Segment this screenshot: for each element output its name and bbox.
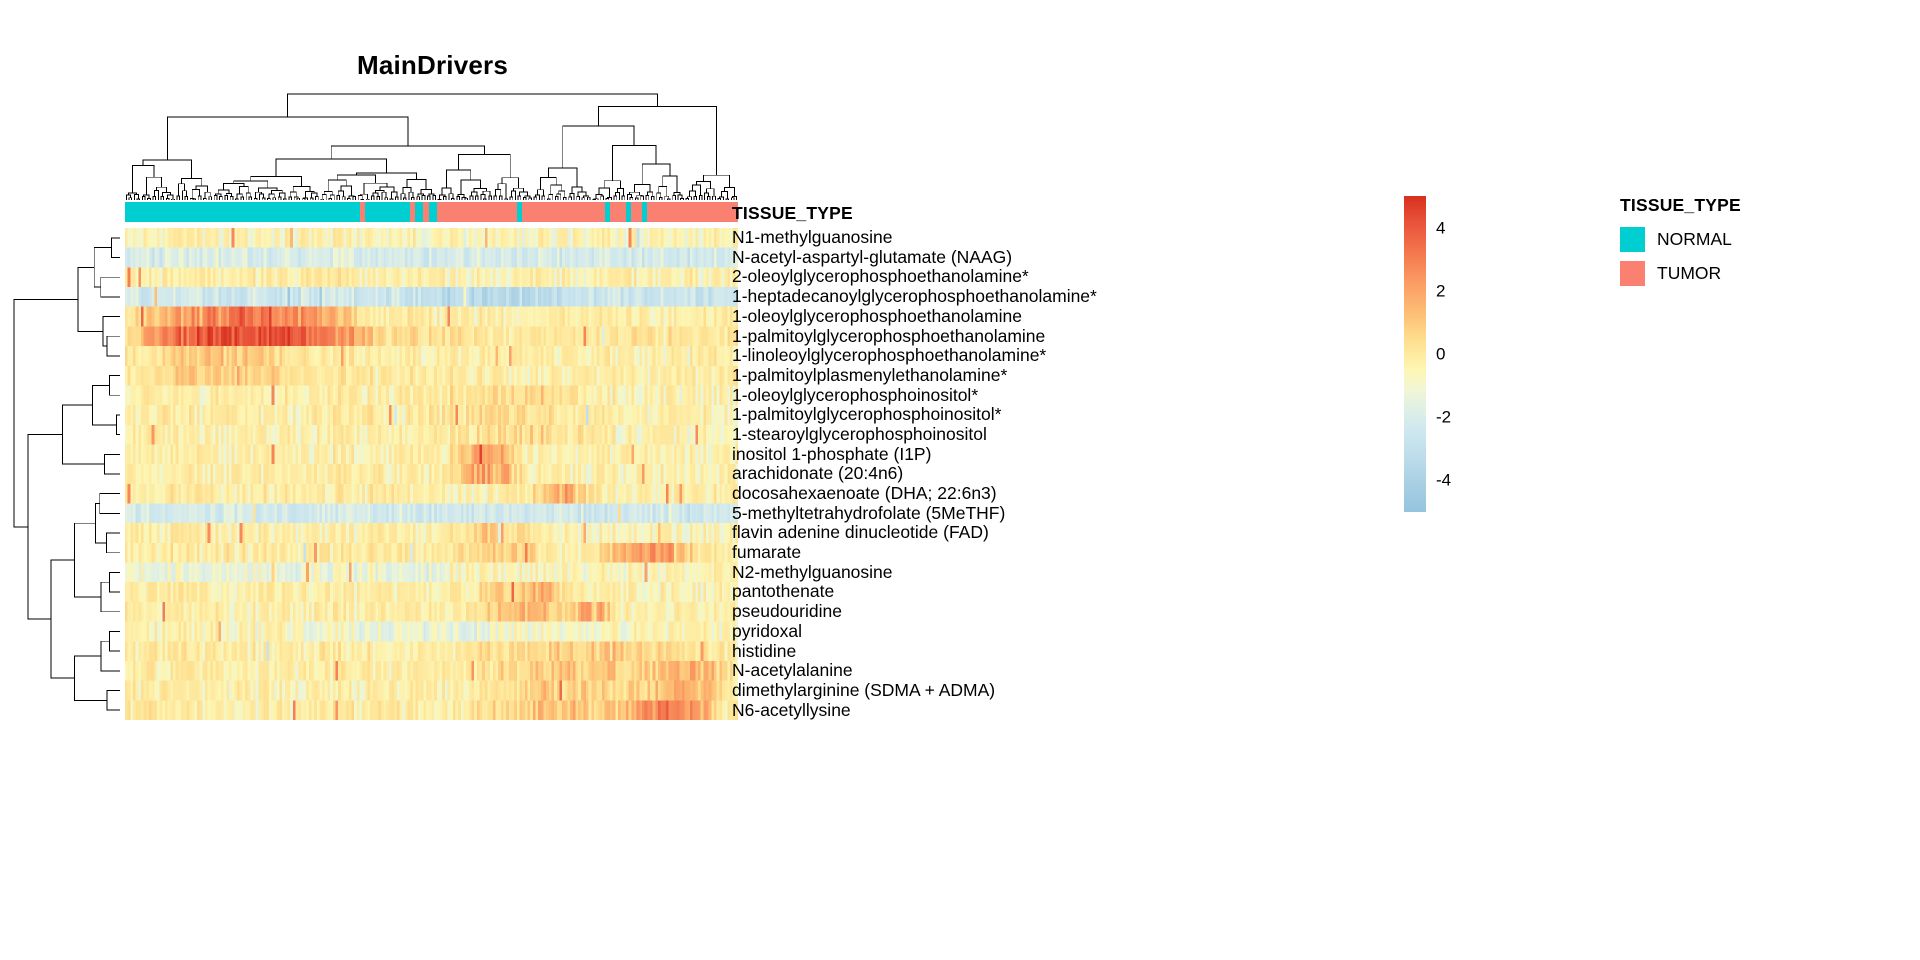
annotation-segment-normal [125,202,360,222]
annotation-segment-normal [429,202,437,222]
row-label: inositol 1-phosphate (I1P) [732,445,1372,465]
row-label: pyridoxal [732,622,1372,642]
tissue-legend-items: NORMALTUMOR [1620,227,1880,286]
row-label: 1-stearoylglycerophosphoinositol [732,425,1372,445]
tissue-type-legend: TISSUE_TYPE NORMALTUMOR [1620,195,1880,295]
legend-item[interactable]: NORMAL [1620,227,1880,252]
row-label: 1-palmitoylplasmenylethanolamine* [732,366,1372,386]
row-label: 1-oleoylglycerophosphoethanolamine [732,307,1372,327]
annotation-segment-tumor [631,202,642,222]
row-label: dimethylarginine (SDMA + ADMA) [732,681,1372,701]
tissue-type-annotation-label: TISSUE_TYPE [732,203,853,224]
row-label: fumarate [732,543,1372,563]
colorbar-tick: -4 [1436,472,1451,489]
colorbar-tick: -2 [1436,409,1451,426]
row-label: N-acetylalanine [732,661,1372,681]
row-label: docosahexaenoate (DHA; 22:6n3) [732,484,1372,504]
column-dendrogram [125,92,738,200]
row-label: N6-acetyllysine [732,701,1372,721]
legend-label: NORMAL [1657,231,1732,249]
page-title: MainDrivers [125,50,740,81]
row-label: 1-linoleoylglycerophosphoethanolamine* [732,346,1372,366]
heatmap-grid [125,228,738,720]
colorbar-tick: 2 [1436,282,1445,299]
heatmap-figure: MainDrivers TISSUE_TYPE N1-methylguanosi… [0,0,1920,960]
row-label: N1-methylguanosine [732,228,1372,248]
colorbar-legend: 420-2-4 [1404,196,1524,526]
row-label: 5-methyltetrahydrofolate (5MeTHF) [732,504,1372,524]
annotation-segment-tumor [522,202,605,222]
row-label: pseudouridine [732,602,1372,622]
row-label: 1-heptadecanoylglycerophosphoethanolamin… [732,287,1372,307]
legend-item[interactable]: TUMOR [1620,261,1880,286]
tissue-legend-title: TISSUE_TYPE [1620,195,1880,216]
row-dendrogram [12,228,120,720]
colorbar-tick: 0 [1436,346,1445,363]
tissue-type-annotation-bar [125,202,738,222]
row-label: N2-methylguanosine [732,563,1372,583]
legend-label: TUMOR [1657,265,1721,283]
annotation-segment-normal [415,202,423,222]
legend-swatch-normal [1620,227,1645,252]
annotation-segment-tumor [437,202,517,222]
colorbar-tick: 4 [1436,219,1445,236]
row-label: pantothenate [732,582,1372,602]
legend-swatch-tumor [1620,261,1645,286]
row-label: flavin adenine dinucleotide (FAD) [732,523,1372,543]
annotation-segment-tumor [647,202,738,222]
row-label: 1-palmitoylglycerophosphoinositol* [732,405,1372,425]
heatmap-canvas [125,228,738,720]
row-label-list: N1-methylguanosineN-acetyl-aspartyl-glut… [732,228,1372,720]
row-label: histidine [732,641,1372,661]
row-label: N-acetyl-aspartyl-glutamate (NAAG) [732,248,1372,268]
row-label: 1-palmitoylglycerophosphoethanolamine [732,326,1372,346]
row-label: 2-oleoylglycerophosphoethanolamine* [732,267,1372,287]
annotation-segment-normal [365,202,410,222]
row-label: 1-oleoylglycerophosphoinositol* [732,386,1372,406]
annotation-segment-tumor [610,202,626,222]
colorbar-gradient [1404,196,1426,512]
row-label: arachidonate (20:4n6) [732,464,1372,484]
